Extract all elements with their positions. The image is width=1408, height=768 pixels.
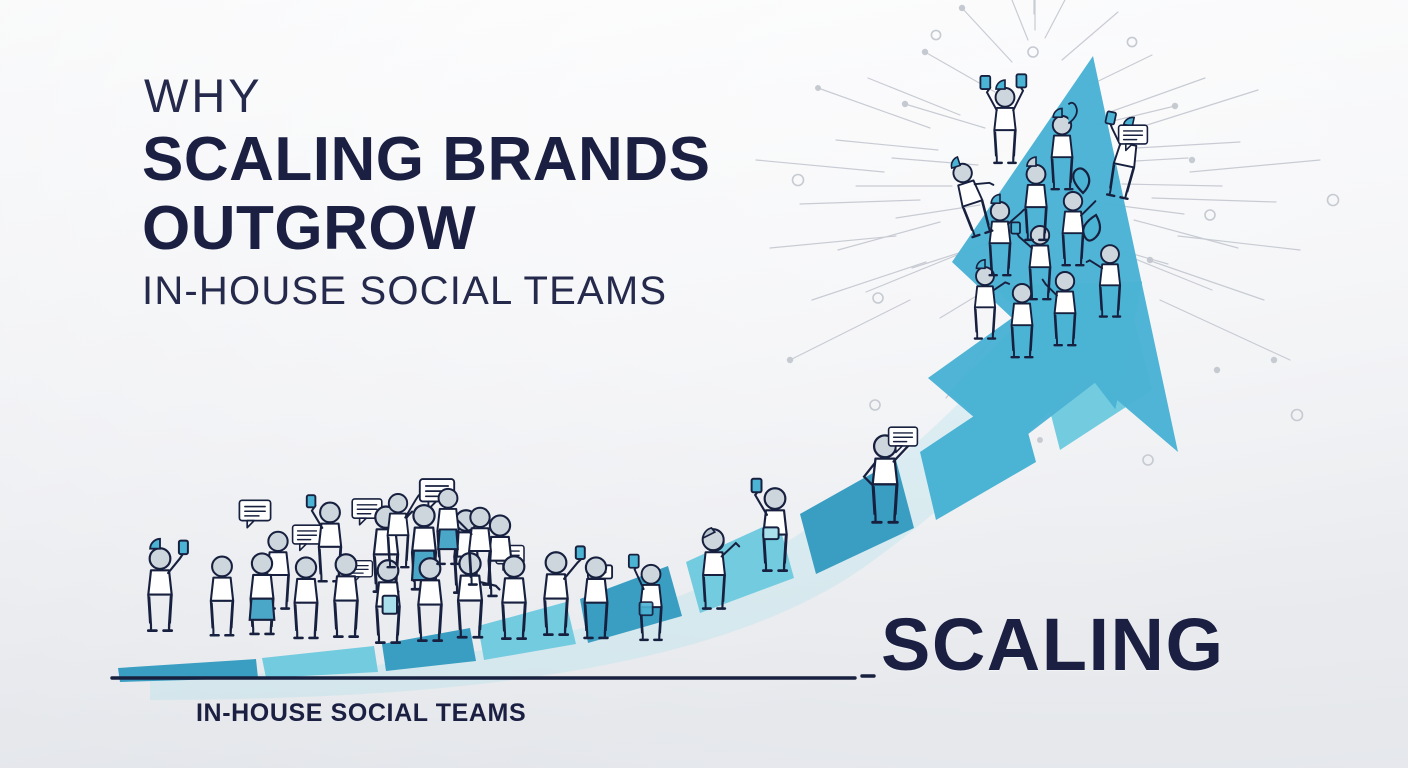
headline-line-2: OUTGROW <box>142 198 802 260</box>
headline-block: WHY SCALING BRANDS OUTGROW IN-HOUSE SOCI… <box>142 72 802 311</box>
headline-line-1: SCALING BRANDS <box>142 129 802 191</box>
headline-subline: IN-HOUSE SOCIAL TEAMS <box>142 271 802 311</box>
ground-baseline <box>112 676 874 678</box>
in-house-caption: IN-HOUSE SOCIAL TEAMS <box>196 701 526 726</box>
headline-eyebrow: WHY <box>144 72 802 119</box>
scaling-label: SCALING <box>881 608 1225 682</box>
infographic-canvas: WHY SCALING BRANDS OUTGROW IN-HOUSE SOCI… <box>0 0 1408 768</box>
